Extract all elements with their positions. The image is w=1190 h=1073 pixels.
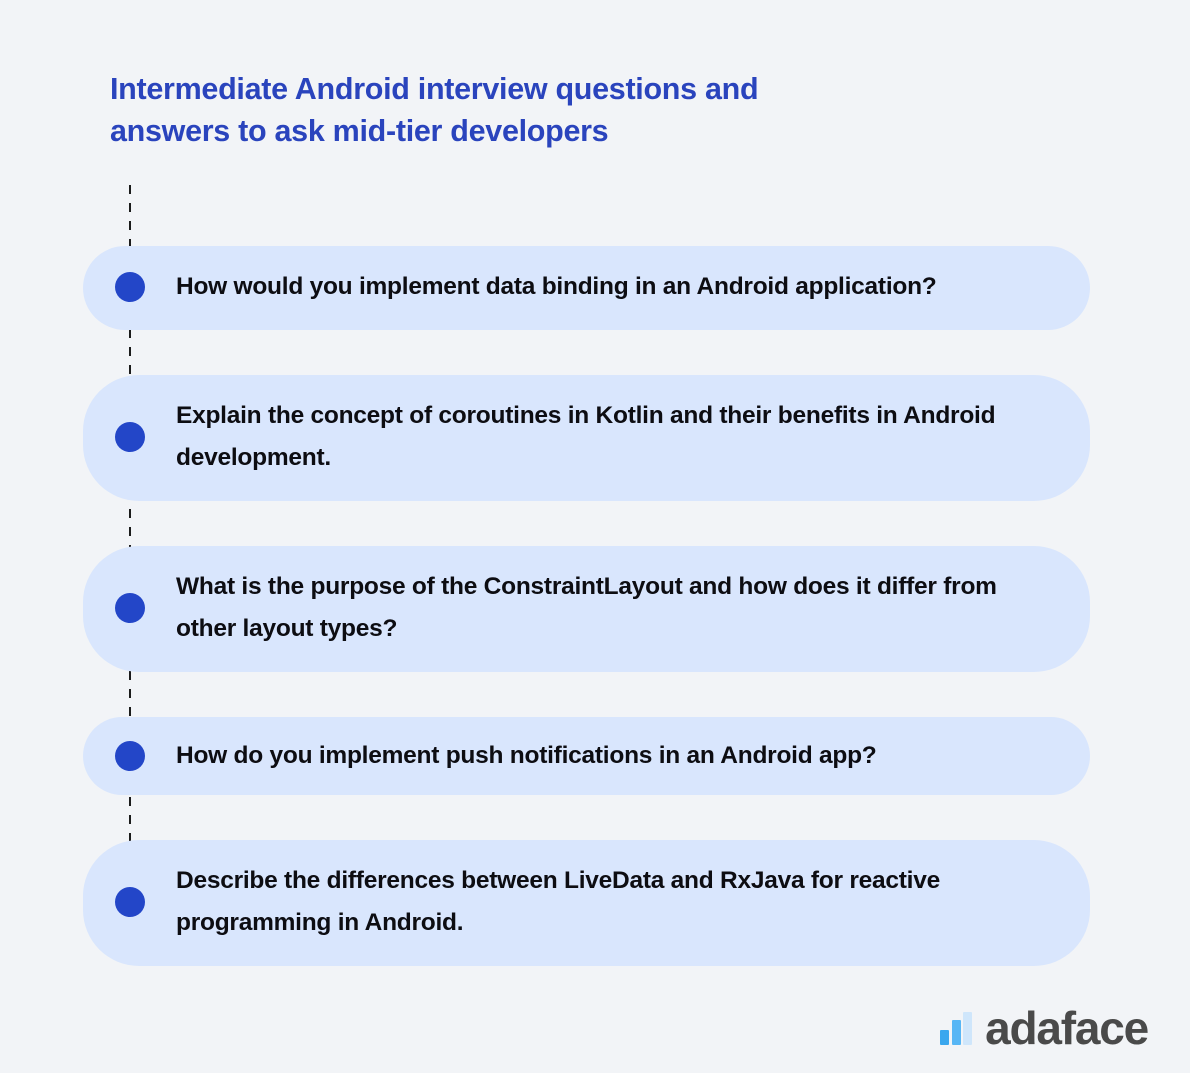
question-card-1[interactable]: How would you implement data binding in … [83, 246, 1090, 330]
adaface-logo[interactable]: adaface [940, 1005, 1148, 1051]
bullet-dot-icon [115, 593, 145, 623]
question-card-4[interactable]: How do you implement push notifications … [83, 717, 1090, 795]
bullet-dot-icon [115, 741, 145, 771]
question-text-3: What is the purpose of the ConstraintLay… [176, 566, 1050, 650]
page-title-line-1: Intermediate Android interview questions… [110, 68, 1050, 110]
timeline-dot-wrapper-1 [83, 272, 176, 302]
question-text-4: How do you implement push notifications … [176, 735, 1050, 777]
bullet-dot-icon [115, 422, 145, 452]
question-text-1: How would you implement data binding in … [176, 266, 1050, 308]
bar-chart-bar-3 [963, 1012, 972, 1045]
question-text-2: Explain the concept of coroutines in Kot… [176, 395, 1050, 479]
bar-chart-bar-2 [952, 1020, 961, 1045]
bullet-dot-icon [115, 272, 145, 302]
question-card-3[interactable]: What is the purpose of the ConstraintLay… [83, 546, 1090, 672]
timeline-dot-wrapper-4 [83, 741, 176, 771]
question-card-5[interactable]: Describe the differences between LiveDat… [83, 840, 1090, 966]
timeline-dot-wrapper-2 [83, 422, 176, 452]
page-title: Intermediate Android interview questions… [110, 68, 1050, 152]
question-card-2[interactable]: Explain the concept of coroutines in Kot… [83, 375, 1090, 501]
timeline-dot-wrapper-3 [83, 593, 176, 623]
bar-chart-icon [940, 1012, 972, 1045]
question-list: How would you implement data binding in … [83, 246, 1090, 966]
timeline-dot-wrapper-5 [83, 887, 176, 917]
bar-chart-bar-1 [940, 1030, 949, 1045]
page-title-line-2: answers to ask mid-tier developers [110, 110, 1050, 152]
question-text-5: Describe the differences between LiveDat… [176, 860, 1050, 944]
bullet-dot-icon [115, 887, 145, 917]
logo-wordmark: adaface [985, 1005, 1148, 1051]
